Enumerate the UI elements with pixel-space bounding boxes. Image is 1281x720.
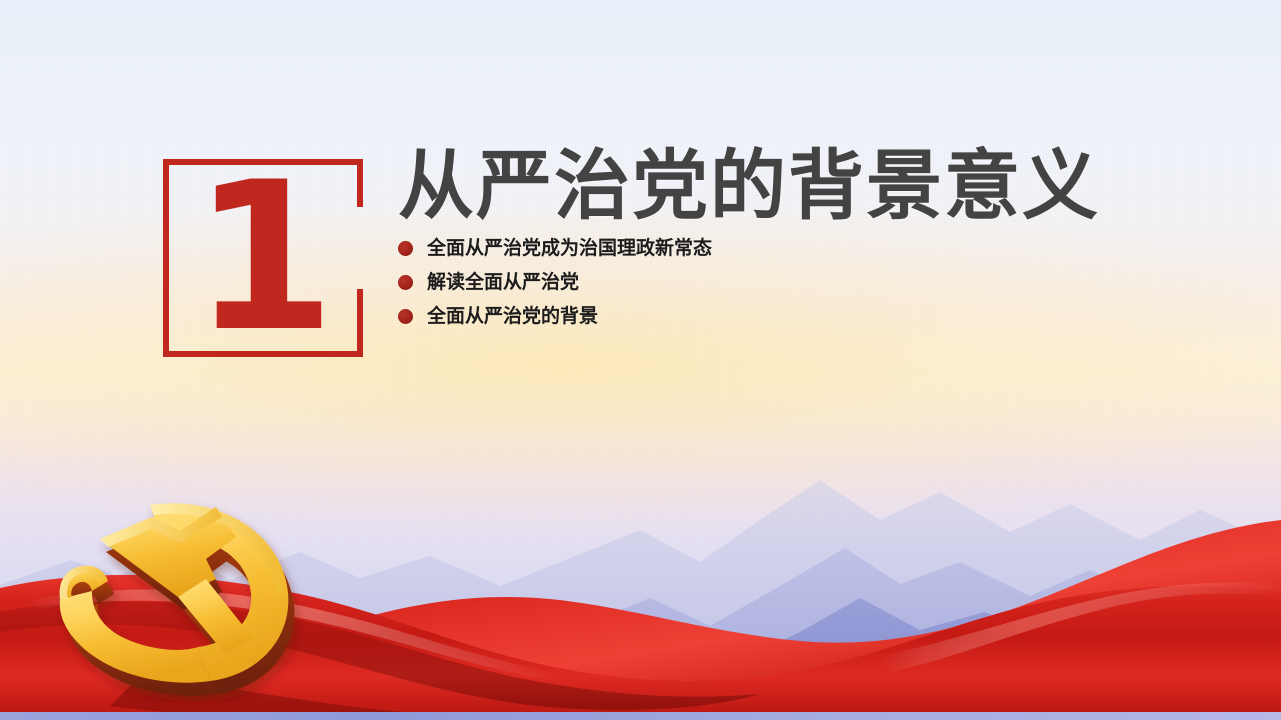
hammer-and-sickle-icon: [30, 487, 360, 702]
list-item[interactable]: 全面从严治党的背景: [398, 303, 1188, 329]
headline-block: 从严治党的背景意义 全面从严治党成为治国理政新常态 解读全面从严治党 全面从严治…: [398, 148, 1188, 337]
agenda-bullet-list: 全面从严治党成为治国理政新常态 解读全面从严治党 全面从严治党的背景: [398, 235, 1188, 329]
list-item-label: 全面从严治党的背景: [427, 306, 598, 327]
bottom-accent-strip: [0, 712, 1281, 720]
presentation-slide: 1 从严治党的背景意义 全面从严治党成为治国理政新常态 解读全面从严治党 全面从…: [0, 0, 1281, 720]
list-item-label: 解读全面从严治党: [427, 272, 579, 293]
list-item-label: 全面从严治党成为治国理政新常态: [427, 238, 712, 259]
list-item[interactable]: 解读全面从严治党: [398, 269, 1188, 295]
page-title: 从严治党的背景意义: [398, 148, 1188, 224]
section-number-digit: 1: [163, 161, 363, 355]
section-number-badge: 1: [163, 159, 363, 357]
bullet-dot-icon: [398, 275, 413, 290]
list-item[interactable]: 全面从严治党成为治国理政新常态: [398, 235, 1188, 261]
bullet-dot-icon: [398, 241, 413, 256]
bullet-dot-icon: [398, 309, 413, 324]
